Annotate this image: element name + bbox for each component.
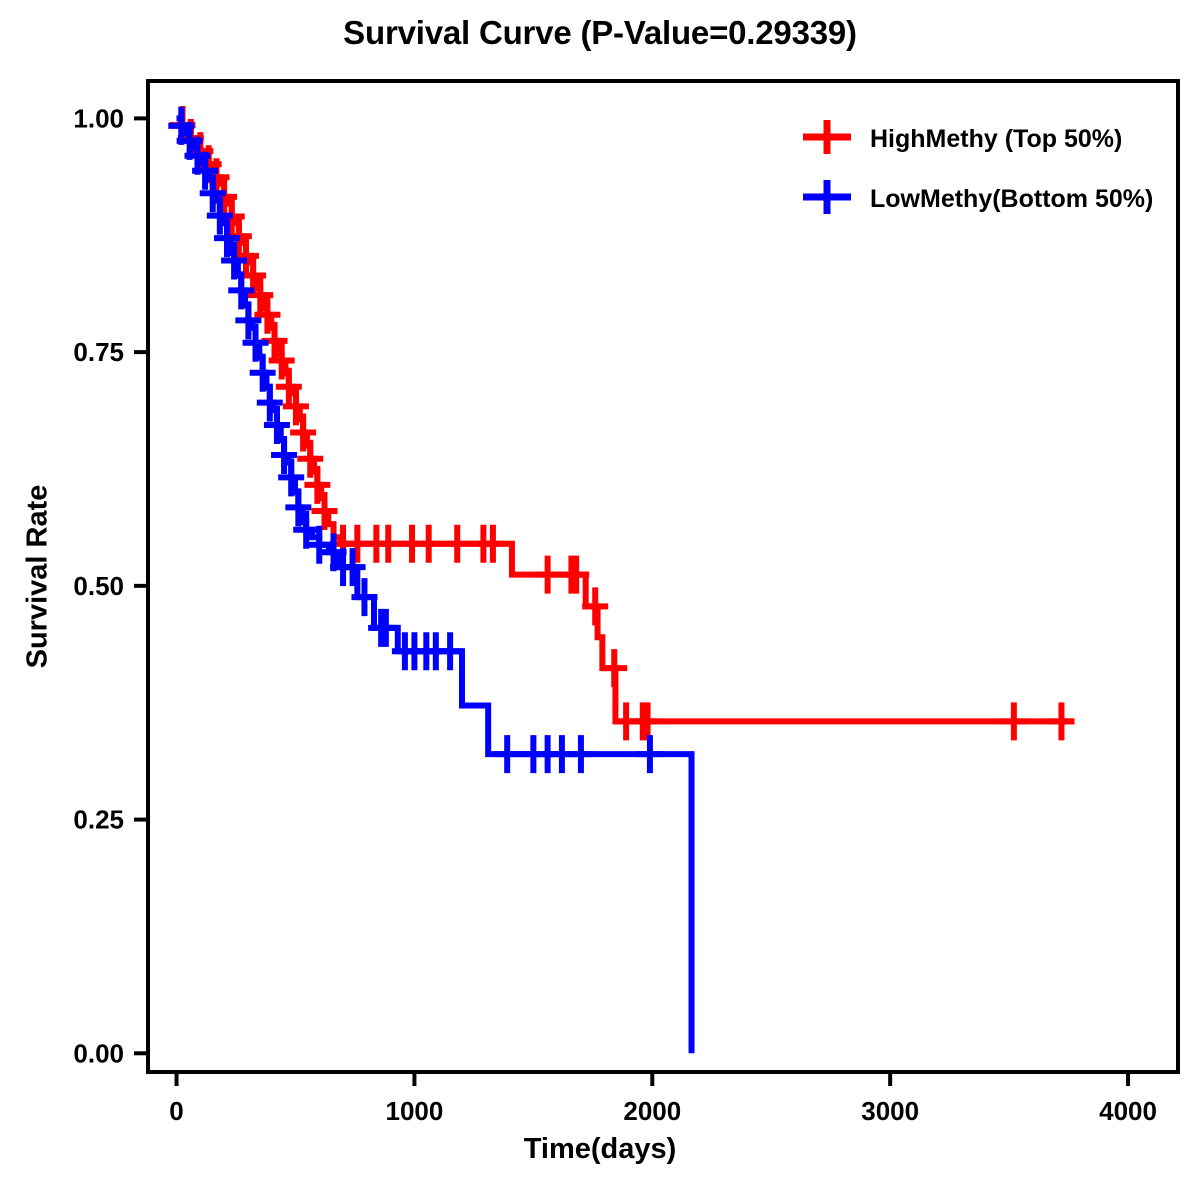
y-tick-label: 0.25 <box>73 805 124 835</box>
censor-plus-marker <box>416 525 442 563</box>
chart-legend: HighMethy (Top 50%)LowMethy(Bottom 50%) <box>803 120 1153 214</box>
y-tick-label: 1.00 <box>73 103 124 133</box>
plot-area: 01000200030004000 0.000.250.500.751.00 H… <box>0 0 1200 1200</box>
x-axis-ticks: 01000200030004000 <box>169 1072 1157 1126</box>
x-tick-label: 1000 <box>385 1096 443 1126</box>
x-tick-label: 4000 <box>1099 1096 1157 1126</box>
legend-label: HighMethy (Top 50%) <box>870 125 1122 153</box>
axis-frame <box>148 81 1178 1072</box>
x-tick-label: 0 <box>169 1096 183 1126</box>
y-axis-ticks: 0.000.250.500.751.00 <box>73 103 148 1068</box>
censor-plus-marker <box>635 702 661 740</box>
x-tick-label: 2000 <box>623 1096 681 1126</box>
y-tick-label: 0.50 <box>73 571 124 601</box>
plus-marker-icon <box>803 120 851 154</box>
censor-plus-marker <box>1048 702 1074 740</box>
censor-plus-marker <box>535 556 561 594</box>
censor-plus-marker <box>1001 702 1027 740</box>
legend-label: LowMethy(Bottom 50%) <box>870 185 1153 213</box>
censor-plus-marker <box>494 735 520 773</box>
y-tick-label: 0.75 <box>73 337 124 367</box>
censor-plus-marker <box>444 525 470 563</box>
legend-entry: HighMethy (Top 50%) <box>803 120 1122 154</box>
censor-plus-marker <box>568 735 594 773</box>
survival-curve-figure: Survival Curve (P-Value=0.29339) Surviva… <box>0 0 1200 1200</box>
censor-plus-marker <box>637 735 663 773</box>
legend-entry: LowMethy(Bottom 50%) <box>803 180 1153 214</box>
plus-marker-icon <box>803 180 851 214</box>
y-tick-label: 0.00 <box>73 1038 124 1068</box>
x-tick-label: 3000 <box>861 1096 919 1126</box>
